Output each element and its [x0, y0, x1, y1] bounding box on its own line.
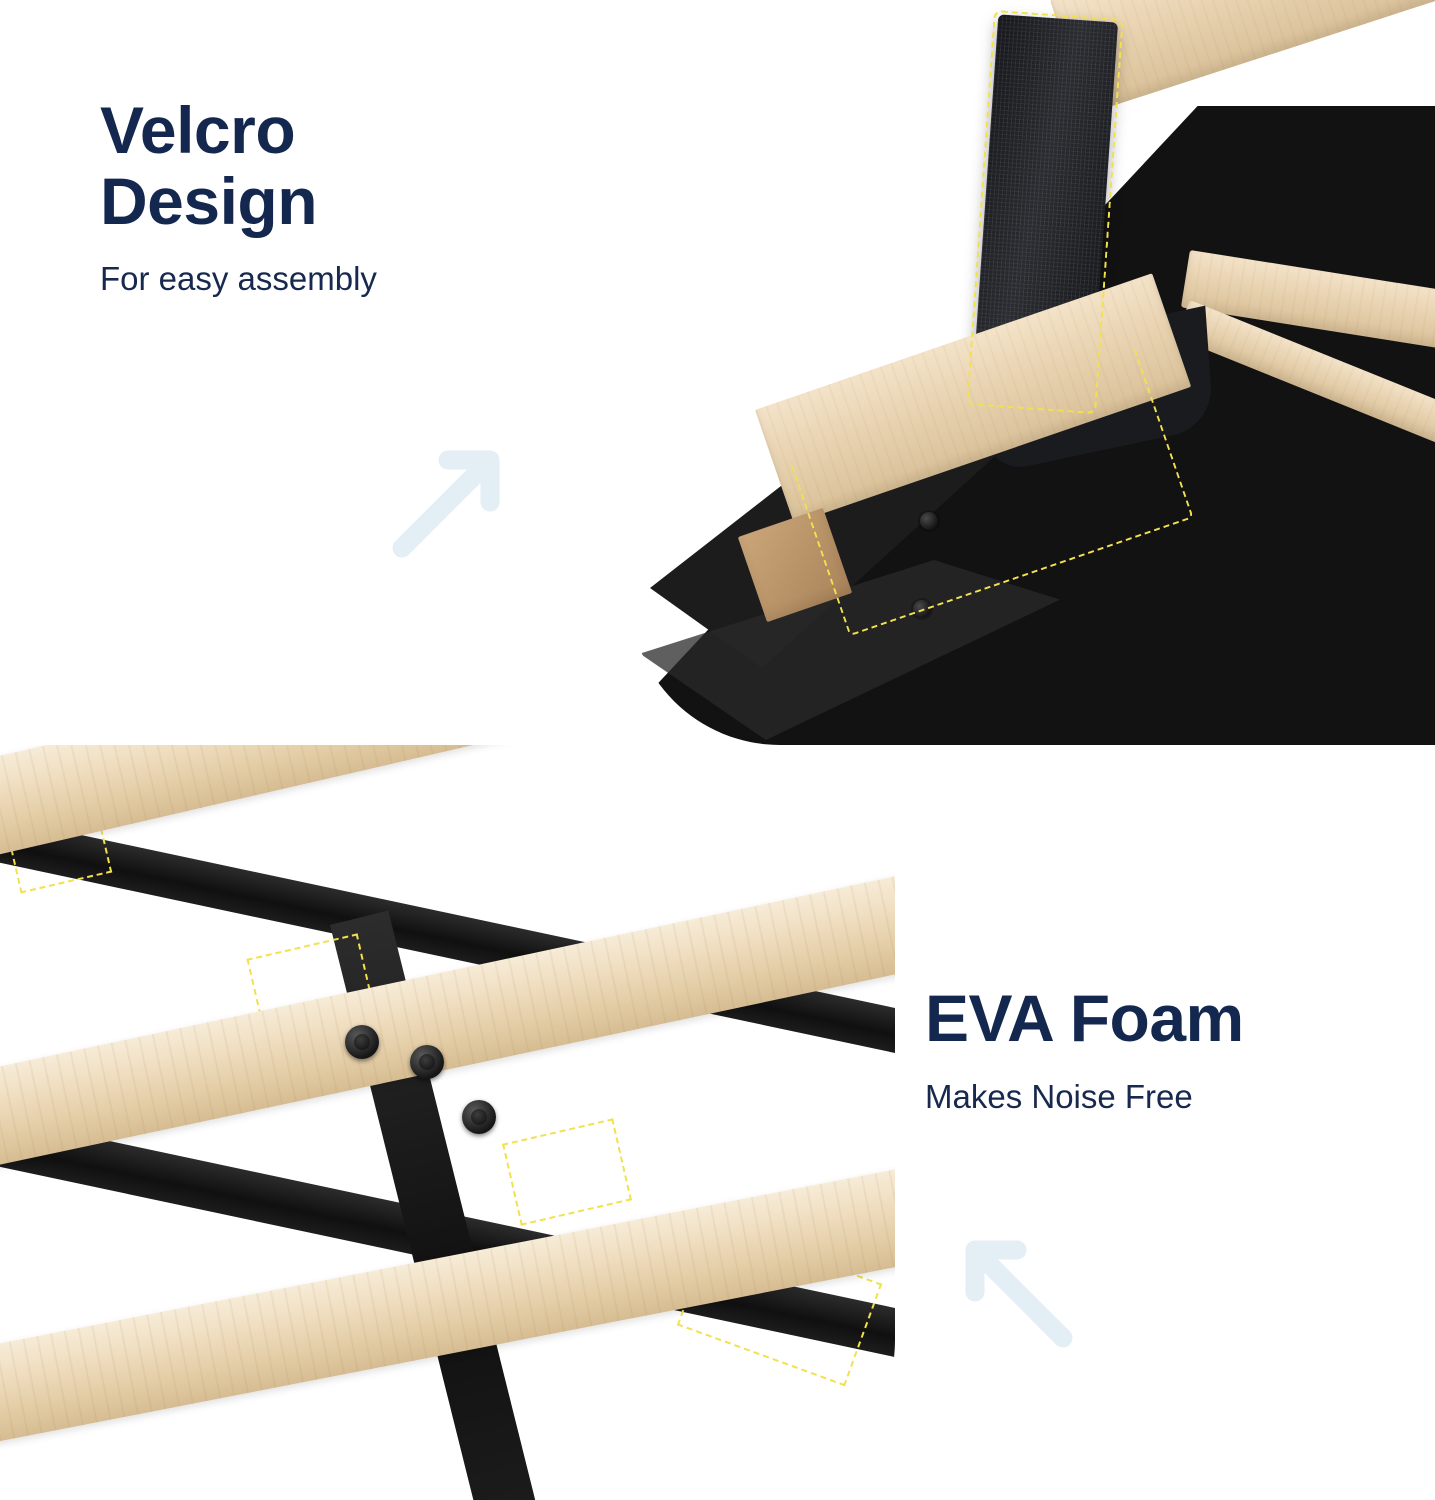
- velcro-subheading: For easy assembly: [100, 260, 570, 298]
- bolt-upper-right: [410, 1045, 444, 1079]
- velcro-heading-line2: Design: [100, 164, 317, 238]
- eva-foam-heading: EVA Foam: [925, 980, 1395, 1056]
- arrow-up-left-icon: [945, 1220, 1075, 1350]
- bolt-lower: [462, 1100, 496, 1134]
- panel-velcro-design: Velcro Design For easy assembly: [0, 0, 1435, 745]
- panel-eva-foam: EVA Foam Makes Noise Free: [0, 745, 1435, 1500]
- eva-foam-subheading: Makes Noise Free: [925, 1078, 1395, 1116]
- velcro-text-block: Velcro Design For easy assembly: [100, 95, 570, 298]
- velcro-photo: [630, 0, 1435, 745]
- screw-head-lower: [913, 600, 931, 618]
- screw-head-upper: [920, 512, 938, 530]
- eva-foam-photo: [0, 745, 895, 1500]
- velcro-heading-line1: Velcro: [100, 93, 295, 167]
- page-title: Velcro Design: [100, 95, 570, 238]
- arrow-up-right-icon: [390, 430, 520, 560]
- product-feature-graphic: Velcro Design For easy assembly: [0, 0, 1435, 1500]
- bolt-upper: [345, 1025, 379, 1059]
- eva-foam-text-block: EVA Foam Makes Noise Free: [925, 980, 1395, 1116]
